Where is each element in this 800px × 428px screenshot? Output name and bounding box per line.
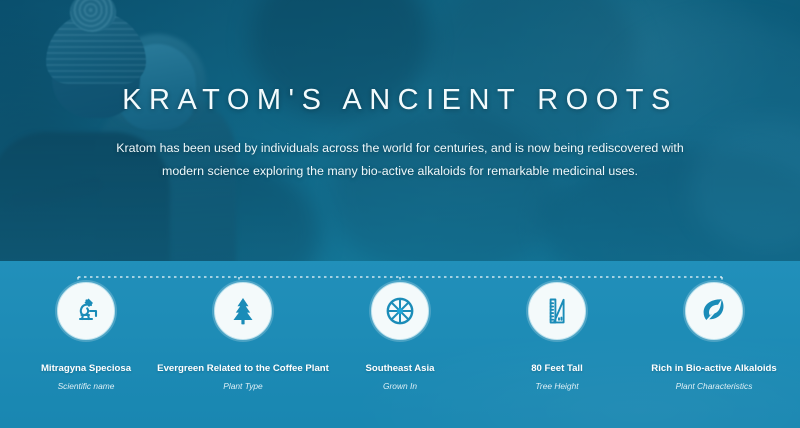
item-title: 80 Feet Tall [531, 362, 583, 375]
item-title: Rich in Bio-active Alkaloids [651, 362, 776, 375]
hero-subtitle: Kratom has been used by individuals acro… [110, 137, 690, 183]
globe-compass-icon [383, 294, 417, 328]
infographic-item-plant-characteristics[interactable]: Rich in Bio-active Alkaloids Plant Chara… [638, 282, 790, 391]
item-title: Southeast Asia [366, 362, 435, 375]
infographic-item-tree-height[interactable]: 80 Feet Tall Tree Height [481, 282, 633, 391]
icon-circle[interactable] [528, 282, 586, 340]
infographic-item-grown-in[interactable]: Southeast Asia Grown In [324, 282, 476, 391]
icon-circle[interactable] [685, 282, 743, 340]
item-subtitle: Scientific name [58, 381, 115, 391]
item-subtitle: Plant Type [223, 381, 262, 391]
evergreen-tree-icon [227, 295, 259, 327]
icon-circle[interactable] [371, 282, 429, 340]
page-title: KRATOM'S ANCIENT ROOTS [122, 84, 678, 117]
hero-section: KRATOM'S ANCIENT ROOTS Kratom has been u… [0, 0, 800, 261]
icon-circle[interactable] [214, 282, 272, 340]
ruler-set-square-icon [541, 295, 573, 327]
hero-content: KRATOM'S ANCIENT ROOTS Kratom has been u… [0, 0, 800, 261]
item-subtitle: Grown In [383, 381, 417, 391]
infographic-items: Mitragyna Speciosa Scientific name Everg… [0, 282, 800, 391]
leaf-icon [698, 295, 730, 327]
item-title: Mitragyna Speciosa [41, 362, 131, 375]
item-title: Evergreen Related to the Coffee Plant [157, 362, 329, 375]
icon-circle[interactable] [57, 282, 115, 340]
infographic-item-scientific-name[interactable]: Mitragyna Speciosa Scientific name [10, 282, 162, 391]
item-subtitle: Plant Characteristics [676, 381, 753, 391]
infographic-band: Mitragyna Speciosa Scientific name Everg… [0, 261, 800, 428]
item-subtitle: Tree Height [535, 381, 578, 391]
microscope-icon [69, 294, 103, 328]
infographic-item-plant-type[interactable]: Evergreen Related to the Coffee Plant Pl… [167, 282, 319, 391]
kratom-infographic-page: KRATOM'S ANCIENT ROOTS Kratom has been u… [0, 0, 800, 428]
